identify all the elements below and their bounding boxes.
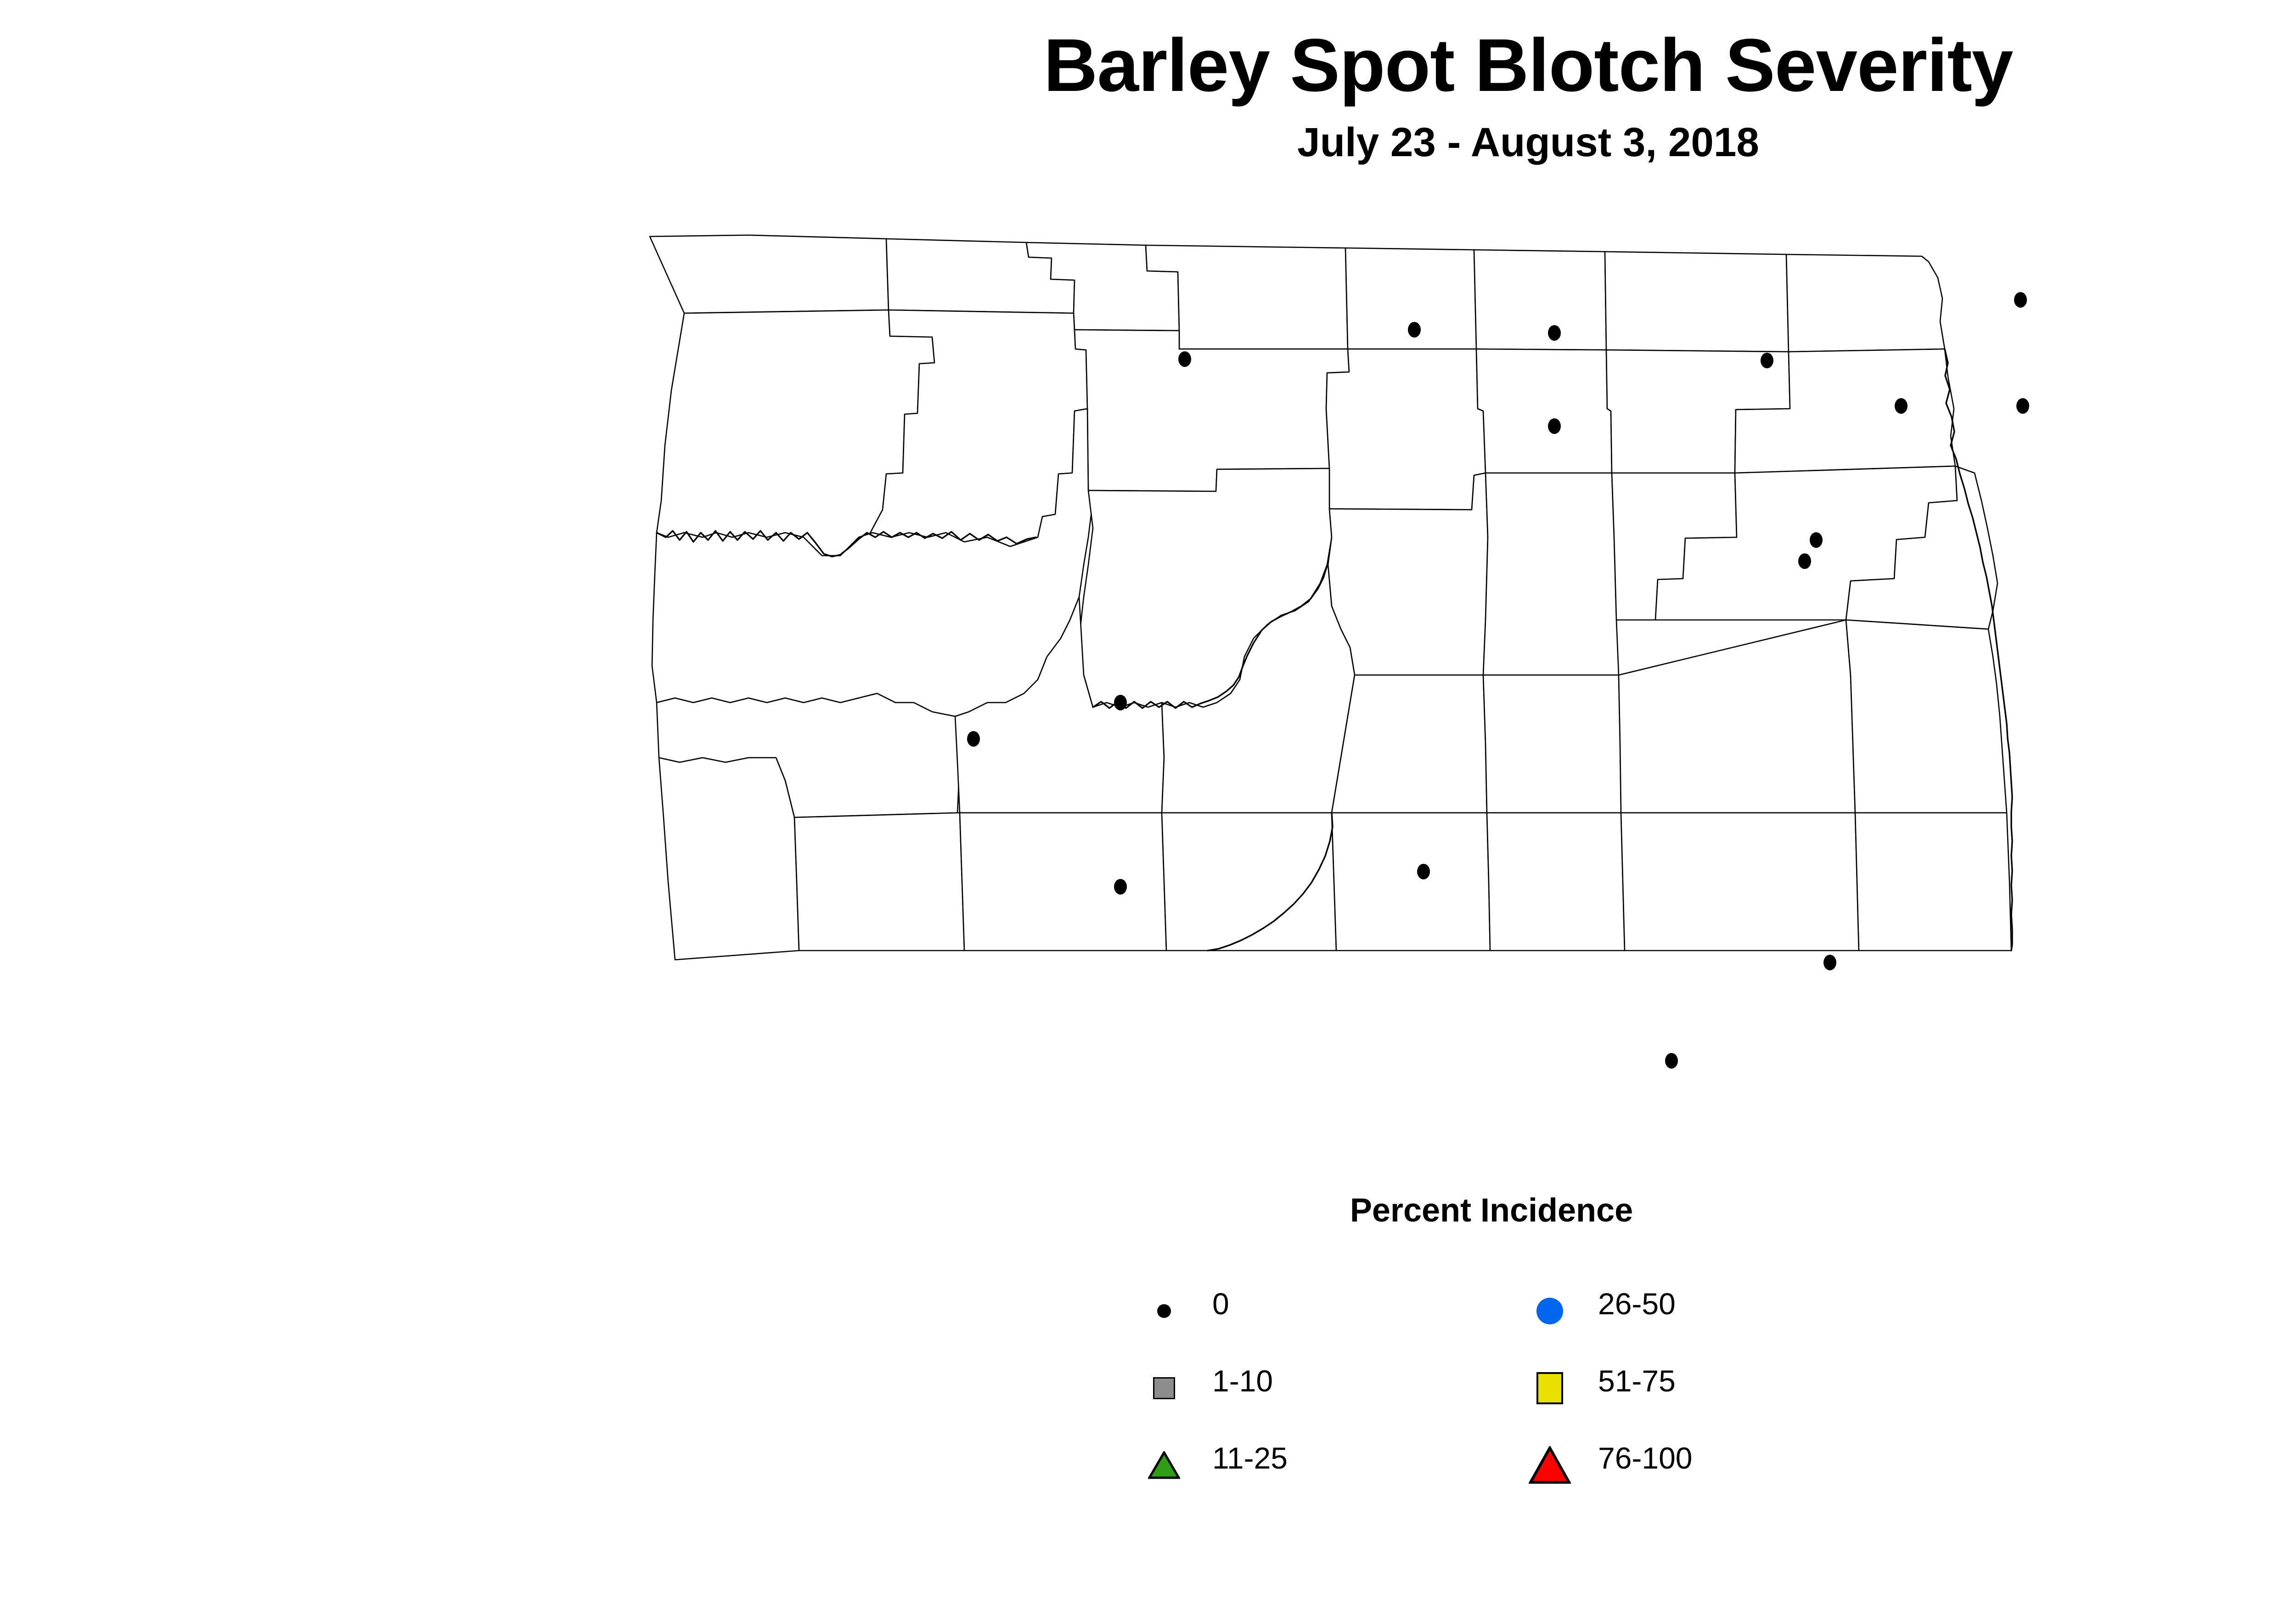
site-data-point[interactable] <box>2014 292 2027 308</box>
site-data-point[interactable] <box>1761 353 1773 368</box>
legend-column-right: 26-50 51-75 76-100 <box>1520 1281 1933 1513</box>
map-svg <box>611 216 2218 1180</box>
green-triangle-icon <box>1134 1435 1194 1495</box>
legend-item-0[interactable]: 0 <box>1134 1281 1548 1358</box>
red-triangle-icon <box>1520 1435 1580 1495</box>
small-black-circle-icon <box>1134 1281 1194 1341</box>
page-title: Barley Spot Blotch Severity <box>0 28 2296 102</box>
legend-item-label: 1-10 <box>1212 1366 1273 1396</box>
page-subtitle: July 23 - August 3, 2018 <box>0 122 2296 163</box>
title-block: Barley Spot Blotch Severity July 23 - Au… <box>0 28 2296 163</box>
site-data-point[interactable] <box>1114 879 1127 895</box>
legend-item-label: 11-25 <box>1212 1443 1288 1473</box>
legend-item-76-100[interactable]: 76-100 <box>1520 1435 1933 1513</box>
legend-item-label: 76-100 <box>1598 1443 1693 1473</box>
site-data-point[interactable] <box>1823 955 1836 970</box>
site-data-point[interactable] <box>1798 553 1811 569</box>
site-data-point[interactable] <box>1417 864 1430 879</box>
legend-item-51-75[interactable]: 51-75 <box>1520 1358 1933 1435</box>
blue-circle-icon <box>1520 1281 1580 1341</box>
site-data-point[interactable] <box>1408 322 1421 338</box>
yellow-square-icon <box>1520 1358 1580 1418</box>
site-data-point[interactable] <box>1548 418 1561 434</box>
site-data-point[interactable] <box>2016 398 2029 414</box>
county-boundaries <box>650 235 2011 960</box>
legend-item-1-10[interactable]: 1-10 <box>1134 1358 1548 1435</box>
site-data-point[interactable] <box>967 731 980 747</box>
legend-item-label: 26-50 <box>1598 1289 1676 1319</box>
site-data-point[interactable] <box>1114 695 1127 710</box>
legend: Percent Incidence 0 1-10 <box>0 1194 2296 1227</box>
site-data-point[interactable] <box>1895 398 1908 414</box>
gray-square-icon <box>1134 1358 1194 1418</box>
legend-item-label: 51-75 <box>1598 1366 1676 1396</box>
site-data-point[interactable] <box>1665 1053 1678 1069</box>
site-data-point[interactable] <box>1810 532 1823 548</box>
site-data-point[interactable] <box>1548 325 1561 341</box>
legend-item-26-50[interactable]: 26-50 <box>1520 1281 1933 1358</box>
figure-root: Barley Spot Blotch Severity July 23 - Au… <box>0 0 2296 1610</box>
legend-item-label: 0 <box>1212 1289 1229 1319</box>
north-dakota-map <box>611 216 2218 1180</box>
site-data-point[interactable] <box>1178 351 1191 367</box>
legend-column-left: 0 1-10 11-25 <box>1134 1281 1548 1513</box>
legend-item-11-25[interactable]: 11-25 <box>1134 1435 1548 1513</box>
legend-heading: Percent Incidence <box>0 1194 2296 1227</box>
